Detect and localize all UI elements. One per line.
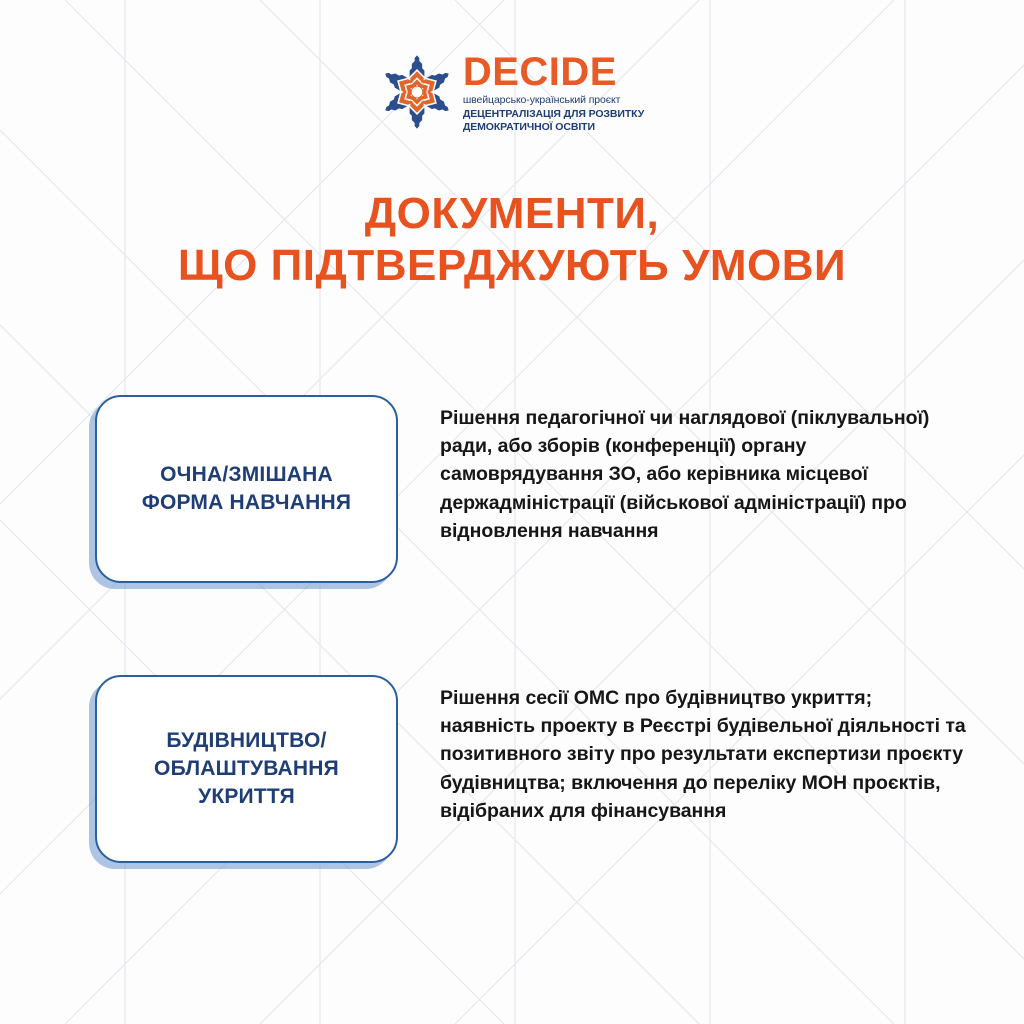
- condition-card-1-label: ОЧНА/ЗМІШАНА ФОРМА НАВЧАННЯ: [128, 461, 365, 517]
- logo-subtitle-line2: ДЕЦЕНТРАЛІЗАЦІЯ ДЛЯ РОЗВИТКУ: [463, 108, 644, 122]
- condition-description-2: Рішення сесії ОМС про будівництво укритт…: [440, 675, 970, 825]
- condition-row-2: БУДІВНИЦТВО/ ОБЛАШТУВАННЯ УКРИТТЯ Рішенн…: [95, 675, 975, 863]
- condition-card-1: ОЧНА/ЗМІШАНА ФОРМА НАВЧАННЯ: [95, 395, 398, 583]
- condition-row-1: ОЧНА/ЗМІШАНА ФОРМА НАВЧАННЯ Рішення педа…: [95, 395, 975, 583]
- condition-card-2-label: БУДІВНИЦТВО/ ОБЛАШТУВАННЯ УКРИТТЯ: [140, 727, 353, 811]
- page-title-line2: ЩО ПІДТВЕРДЖУЮТЬ УМОВИ: [0, 240, 1024, 292]
- page-title-line1: ДОКУМЕНТИ,: [0, 188, 1024, 240]
- condition-card-2: БУДІВНИЦТВО/ ОБЛАШТУВАННЯ УКРИТТЯ: [95, 675, 398, 863]
- logo-subtitle-line1: швейцарсько-український проєкт: [463, 94, 644, 107]
- page-title: ДОКУМЕНТИ, ЩО ПІДТВЕРДЖУЮТЬ УМОВИ: [0, 188, 1024, 292]
- infographic-page: DECIDE швейцарсько-український проєкт ДЕ…: [0, 0, 1024, 1024]
- snowflake-star-icon: [380, 53, 454, 131]
- decide-logo: DECIDE швейцарсько-український проєкт ДЕ…: [0, 52, 1024, 135]
- logo-subtitle-line3: ДЕМОКРАТИЧНОЇ ОСВІТИ: [463, 121, 644, 135]
- condition-description-1: Рішення педагогічної чи наглядової (пікл…: [440, 395, 970, 545]
- logo-wordmark: DECIDE: [463, 53, 644, 91]
